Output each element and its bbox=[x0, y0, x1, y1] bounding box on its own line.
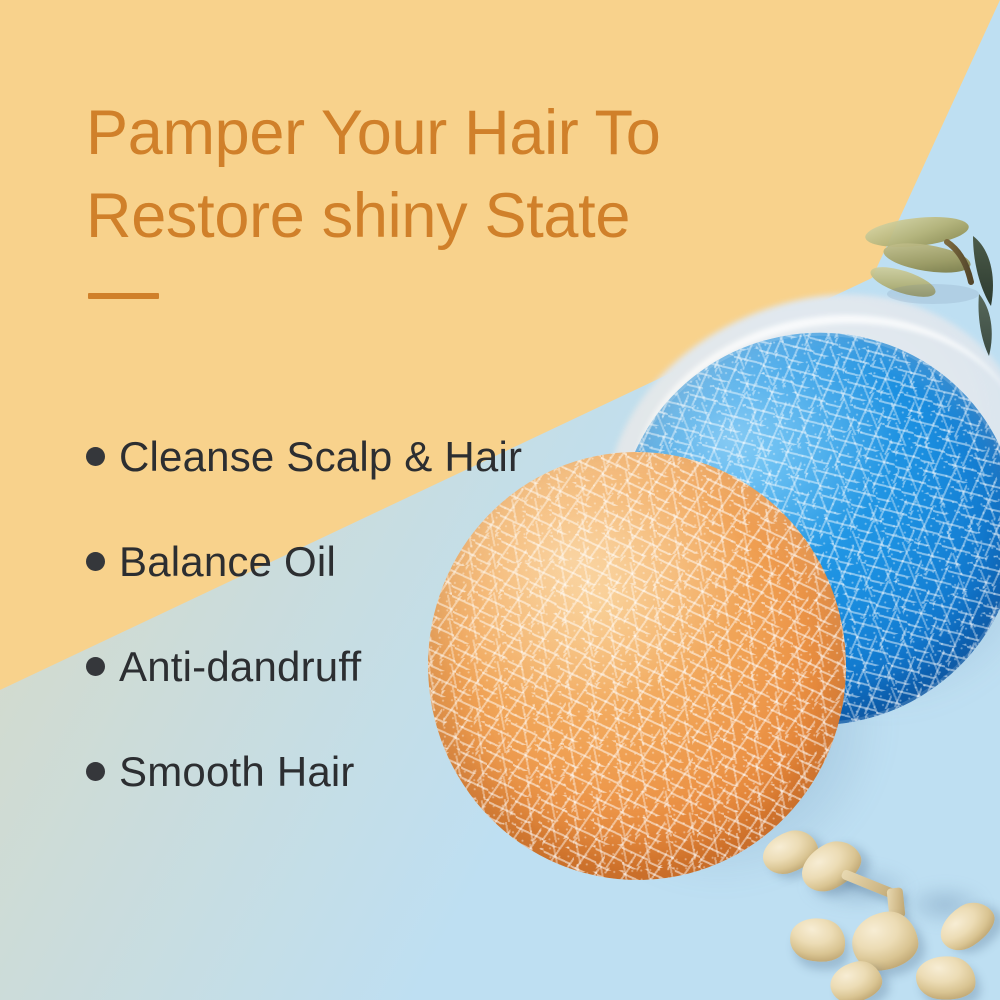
benefit-label: Smooth Hair bbox=[119, 751, 355, 793]
product-benefits-banner: Pamper Your Hair To Restore shiny State … bbox=[0, 0, 1000, 1000]
bullet-dot-icon bbox=[86, 762, 105, 781]
bullet-dot-icon bbox=[86, 552, 105, 571]
list-item: Balance Oil bbox=[86, 509, 606, 614]
list-item: Anti-dandruff bbox=[86, 614, 606, 719]
bullet-dot-icon bbox=[86, 447, 105, 466]
benefits-list: Cleanse Scalp & Hair Balance Oil Anti-da… bbox=[86, 404, 606, 824]
bullet-dot-icon bbox=[86, 657, 105, 676]
page-title: Pamper Your Hair To Restore shiny State bbox=[86, 92, 906, 258]
benefit-label: Anti-dandruff bbox=[119, 646, 361, 688]
list-item: Smooth Hair bbox=[86, 719, 606, 824]
benefit-label: Cleanse Scalp & Hair bbox=[119, 436, 522, 478]
list-item: Cleanse Scalp & Hair bbox=[86, 404, 606, 509]
benefit-label: Balance Oil bbox=[119, 541, 336, 583]
title-divider bbox=[88, 293, 159, 299]
